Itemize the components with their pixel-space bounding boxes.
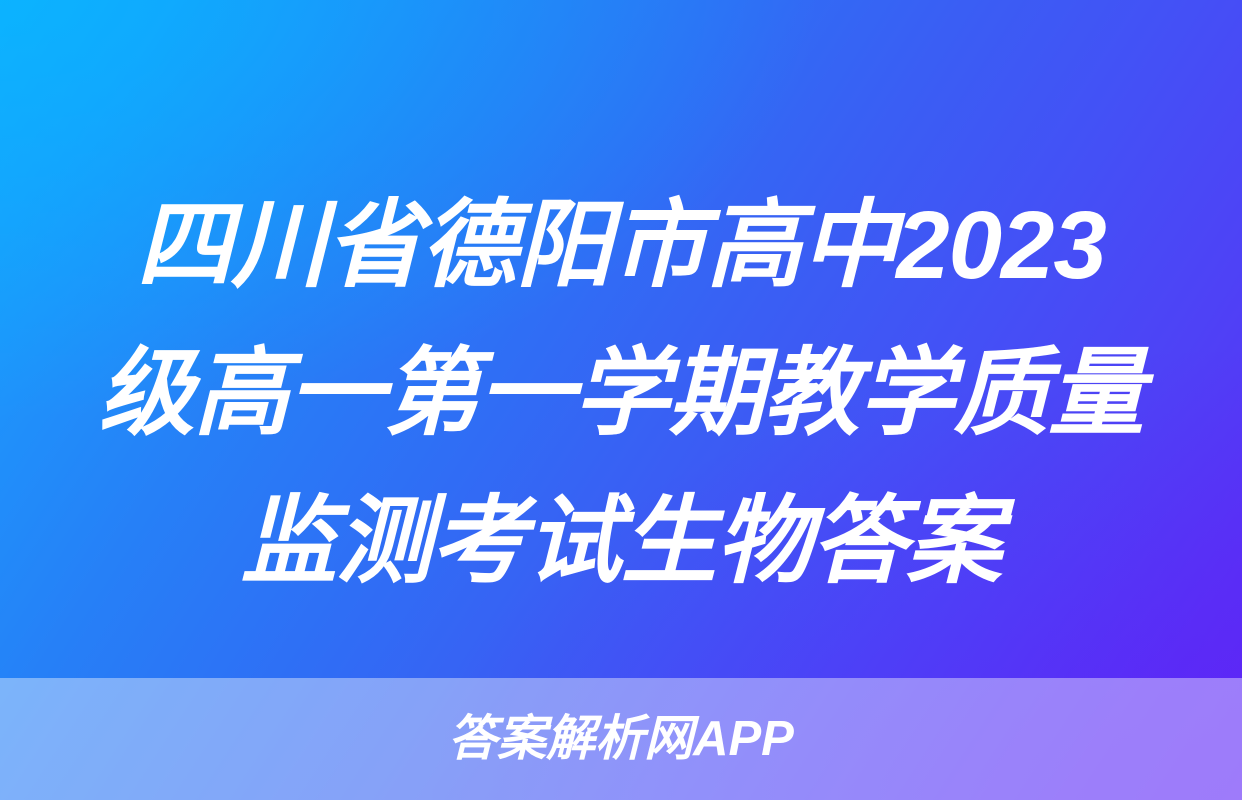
page-title: 四川省德阳市高中2023 级高一第一学期教学质量 监测考试生物答案 [0, 172, 1242, 616]
headline-line-2: 级高一第一学期教学质量 [46, 320, 1196, 468]
poster-canvas: 四川省德阳市高中2023 级高一第一学期教学质量 监测考试生物答案 答案解析网A… [0, 0, 1242, 800]
headline-line-3: 监测考试生物答案 [46, 468, 1196, 616]
watermark-banner: 答案解析网APP [0, 678, 1242, 800]
watermark-app-label: 答案解析网APP [448, 715, 794, 764]
headline-line-1: 四川省德阳市高中2023 [46, 172, 1196, 320]
